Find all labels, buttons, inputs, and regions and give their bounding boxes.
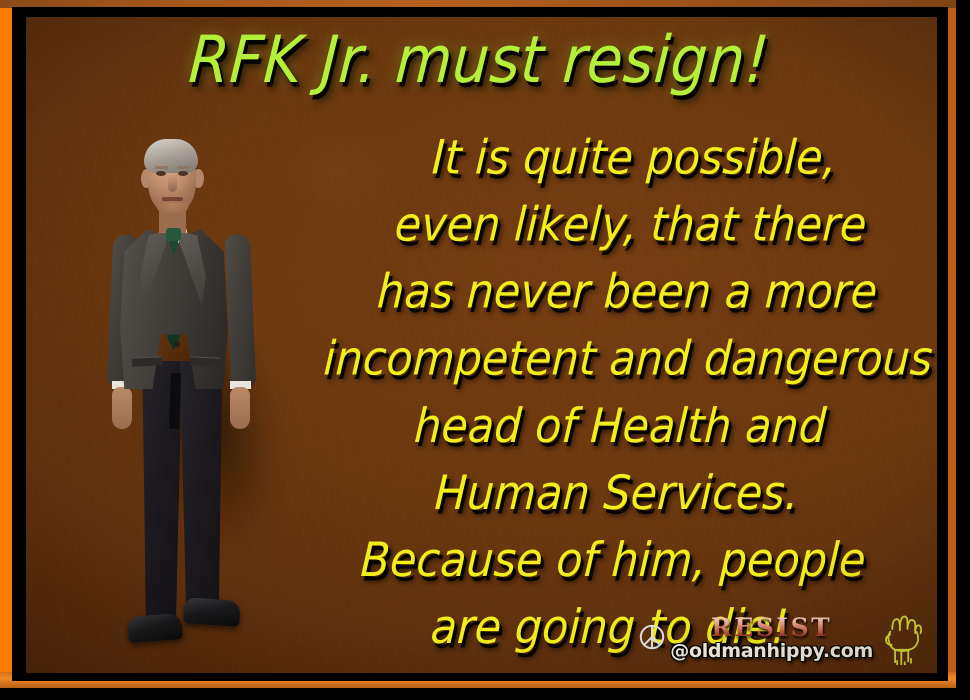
meme-poster: RFK Jr. must resign! xyxy=(0,0,970,700)
raised-fist-icon xyxy=(879,611,925,665)
figure-left-hand xyxy=(112,387,132,429)
quote-line: has never been a more xyxy=(325,259,929,326)
figure-right-leg xyxy=(180,361,226,623)
figure-right-eye xyxy=(178,171,188,176)
page-title: RFK Jr. must resign! xyxy=(26,27,937,92)
quote-text-block: It is quite possible, even likely, that … xyxy=(308,125,936,662)
figure-trouser-seam xyxy=(169,373,181,429)
quote-line: head of Health and xyxy=(318,393,922,460)
branding-watermark[interactable]: RESIST @oldmanhippy.com xyxy=(638,609,925,667)
figure-right-pocket xyxy=(190,356,220,367)
quote-line: incompetent and dangerous xyxy=(322,326,926,393)
figure-right-hand xyxy=(230,387,250,429)
figure-left-shoe xyxy=(127,613,183,643)
watermark-text-group: RESIST @oldmanhippy.com xyxy=(670,615,873,661)
figure-left-eye xyxy=(156,171,166,176)
figure-right-shoe xyxy=(183,597,241,627)
figure-right-arm xyxy=(225,235,257,388)
figure-left-eyebrow xyxy=(155,166,168,169)
figure-nose xyxy=(168,175,177,192)
figure-mouth xyxy=(162,197,183,201)
quote-line: Because of him, people xyxy=(311,528,915,595)
poster-artboard: RFK Jr. must resign! xyxy=(26,17,937,673)
figure-body xyxy=(88,129,278,649)
quote-line: It is quite possible, xyxy=(332,125,936,192)
figure-left-pocket xyxy=(132,356,162,367)
quote-line: even likely, that there xyxy=(329,192,933,259)
resist-wordmark: RESIST xyxy=(711,615,832,640)
figure-jacket-button xyxy=(174,341,180,347)
politician-photo-cutout xyxy=(88,129,278,649)
quote-line: Human Services. xyxy=(315,461,919,528)
peace-sign-icon xyxy=(638,623,666,651)
figure-right-eyebrow xyxy=(177,166,190,169)
figure-tie-knot xyxy=(166,228,181,241)
site-domain-label[interactable]: @oldmanhippy.com xyxy=(670,642,873,661)
